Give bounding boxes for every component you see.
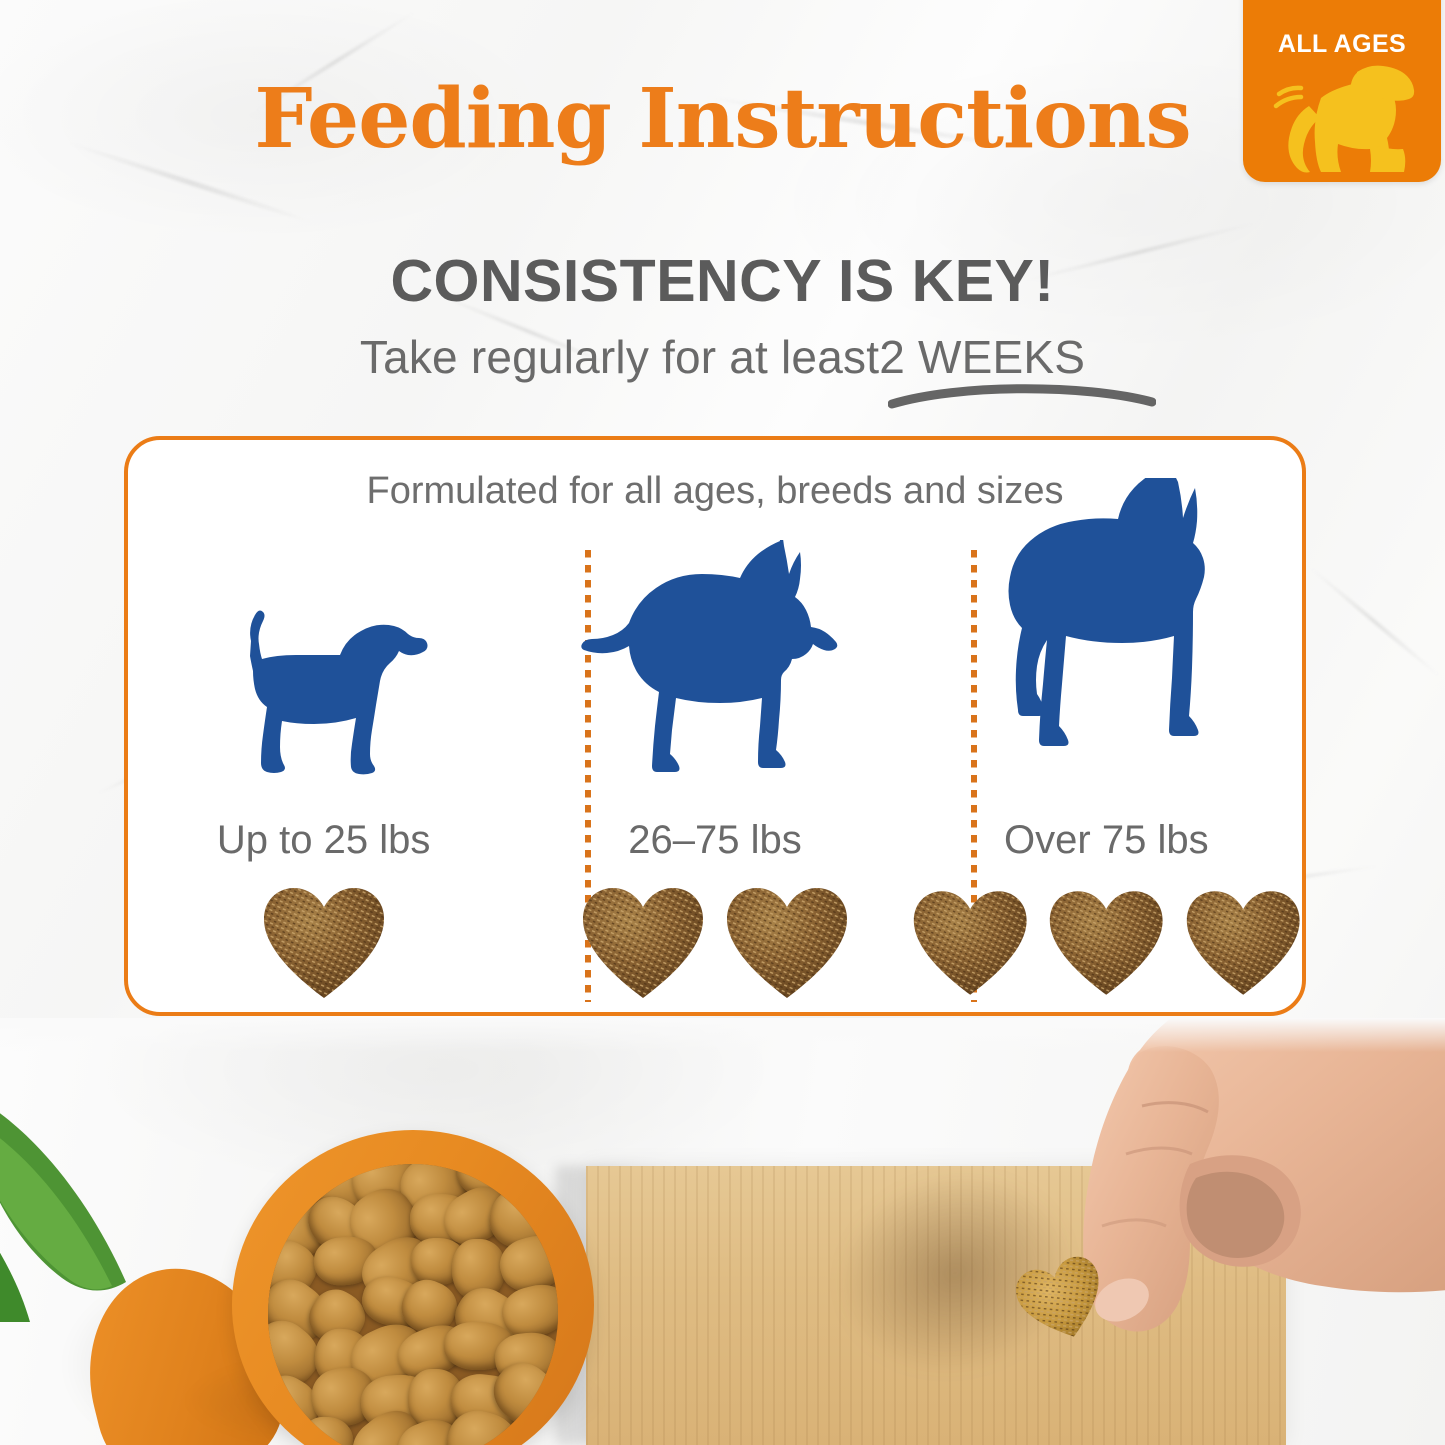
tagline: Take regularly for at least2 WEEKS [0,330,1445,384]
large-dog-icon [966,478,1246,778]
tagline-emphasis: 2 WEEKS [879,331,1085,383]
treat-count-medium [519,884,910,1002]
size-label-medium: 26–75 lbs [519,818,910,863]
all-ages-badge: ALL AGES [1243,0,1441,182]
medium-dog-icon [570,540,860,778]
treat-count-small [128,884,519,1002]
bowl-interior [268,1164,558,1445]
size-column-medium: 26–75 lbs [519,536,910,1006]
size-column-large: Over 75 lbs [911,536,1302,1006]
treat-count-large [911,884,1302,1002]
product-photo [0,1018,1445,1445]
large-dog-illustration [911,478,1302,778]
size-column-small: Up to 25 lbs [128,536,519,1006]
medium-dog-illustration [519,540,910,778]
kibble-pieces [268,1164,558,1445]
tagline-text: Take regularly for at least [360,331,879,383]
small-dog-icon [220,603,428,778]
photo-top-fade [0,1018,1445,1052]
subtitle-heading: CONSISTENCY IS KEY! [0,247,1445,315]
kibble-heart-icon [724,884,850,1002]
small-dog-illustration [128,603,519,778]
kibble-heart-icon [1047,884,1165,1002]
size-columns: Up to 25 lbs [128,536,1302,1006]
kibble-heart-icon [1184,884,1302,1002]
kibble-heart-icon [580,884,706,1002]
kibble-heart-icon [261,884,387,1002]
size-label-large: Over 75 lbs [911,818,1302,863]
hand-holding-kibble [890,1018,1445,1394]
page-title: Feeding Instructions [0,78,1445,160]
sitting-dog-icon [1269,54,1419,176]
underline-swoosh-icon [888,378,1156,412]
feeding-chart-card: Formulated for all ages, breeds and size… [124,436,1306,1016]
size-label-small: Up to 25 lbs [128,818,519,863]
kibble-heart-icon [911,884,1029,1002]
